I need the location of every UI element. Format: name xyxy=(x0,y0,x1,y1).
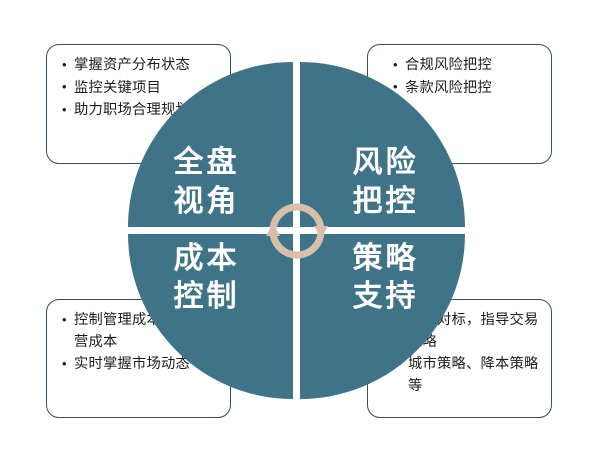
quadrant-label-bottom-right: 策略 支持 xyxy=(300,240,465,317)
quadrant-bottom-left[interactable]: 成本 控制 xyxy=(128,234,293,399)
quadrant-label-bottom-left: 成本 控制 xyxy=(128,240,293,317)
quadrant-top-right[interactable]: 风险 把控 xyxy=(300,62,465,227)
quadrant-top-left[interactable]: 全盘 视角 xyxy=(128,62,293,227)
quadrant-label-top-left: 全盘 视角 xyxy=(128,144,293,221)
quadrant-label-top-right: 风险 把控 xyxy=(300,144,465,221)
quadrant-wheel: 全盘 视角 风险 把控 成本 控制 策略 支持 xyxy=(128,62,465,399)
diagram-canvas: 掌握资产分布状态 监控关键项目 助力职场合理规划 合规风险把控 条款风险把控 控… xyxy=(0,0,600,463)
quadrant-bottom-right[interactable]: 策略 支持 xyxy=(300,234,465,399)
